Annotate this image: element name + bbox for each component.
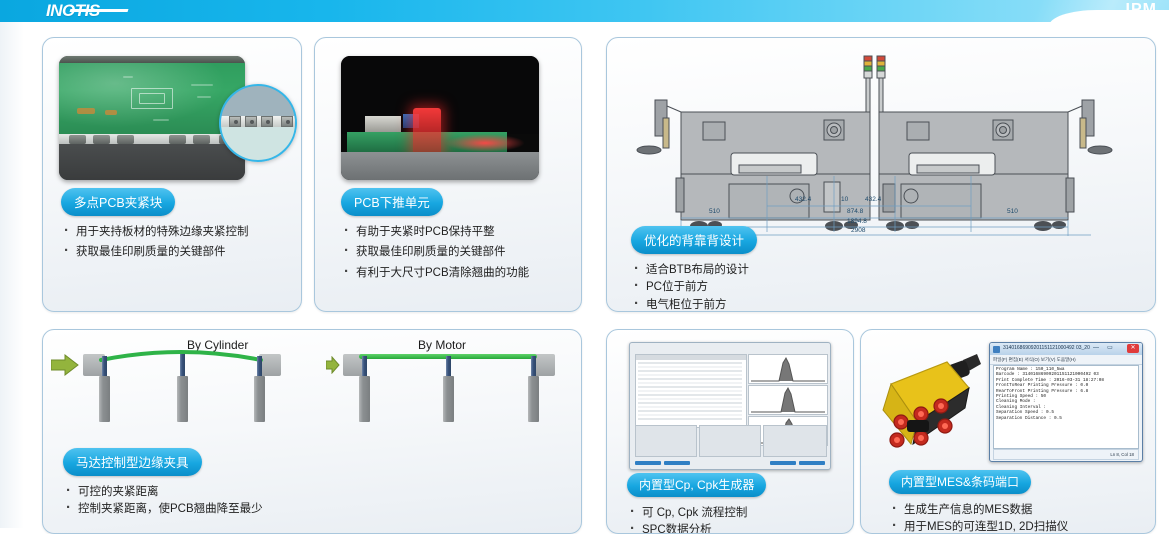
card-pcb-push-down-unit: PCB下推单元 有助于夹紧时PCB保持平整 获取最佳印刷质量的关键部件 有利于大…: [314, 37, 582, 312]
log-line: Separation Distance : 0.5: [996, 416, 1136, 421]
laser-beam: [413, 108, 441, 156]
clamp-block: [117, 135, 134, 144]
clamp-support: [528, 376, 539, 422]
notepad-text-area[interactable]: Program Name : 150_110_5wa Barcode : 314…: [993, 365, 1139, 449]
panel: [703, 122, 725, 140]
magnified-clamp-block: [229, 116, 241, 127]
card4-text: 马达控制型边缘夹具 可控的夹紧距离 控制夹紧距离，使PCB翘曲降至最少: [63, 448, 263, 520]
list-item: SPC数据分析: [627, 523, 766, 534]
card4-title: 马达控制型边缘夹具: [63, 448, 202, 476]
list-item: 有助于夹紧时PCB保持平整: [341, 225, 529, 239]
panel: [907, 122, 929, 140]
clamp-block: [93, 135, 110, 144]
card3-text: 优化的背靠背设计 适合BTB布局的设计 PC位于前方 电气柜位于前方: [631, 226, 757, 312]
clamp-shaft: [257, 356, 262, 378]
pcb-trace: [197, 96, 211, 98]
card3-bullets: 适合BTB布局的设计 PC位于前方 电气柜位于前方: [631, 263, 757, 312]
spc-action-button[interactable]: [799, 461, 825, 465]
list-item: 用于夹持板材的特殊边缘夹紧控制: [61, 225, 249, 239]
list-item: 生成生产信息的MES数据: [889, 503, 1068, 517]
card6-title: 内置型MES&条码端口: [889, 470, 1031, 494]
list-item: 电气柜位于前方: [631, 298, 757, 312]
fan-right: [993, 120, 1013, 140]
brand-logo-inotis: INOTIS: [46, 1, 100, 21]
machine-top-edge: [59, 56, 245, 63]
card1-bullets: 用于夹持板材的特殊边缘夹紧控制 获取最佳印刷质量的关键部件: [61, 225, 249, 260]
spc-stats-panel-1: [635, 425, 697, 457]
clamp-block: [193, 135, 210, 144]
clamp-support: [359, 376, 370, 422]
clamp-shaft: [446, 356, 451, 378]
pcb-trace: [191, 84, 213, 86]
card6-bullets: 生成生产信息的MES数据 用于MES的可连型1D, 2D扫描仪: [889, 503, 1068, 534]
spc-action-button[interactable]: [664, 461, 690, 465]
list-item: 控制夹紧距离，使PCB翘曲降至最少: [63, 502, 263, 516]
signal-tower-right: [877, 56, 885, 112]
card2-text: PCB下推单元 有助于夹紧时PCB保持平整 获取最佳印刷质量的关键部件 有利于大…: [341, 188, 529, 286]
card1-text: 多点PCB夹紧块 用于夹持板材的特殊边缘夹紧控制 获取最佳印刷质量的关键部件: [61, 188, 249, 266]
clamp-shaft: [180, 354, 185, 378]
pcb-pad: [105, 110, 117, 115]
card-back-to-back-design: 432.4 10 432.4 510 874.8 510 1894.8 2908…: [606, 37, 1156, 312]
arrow-small-icon: [326, 356, 340, 374]
histogram-chart: [748, 385, 828, 415]
brand-logo-strike-decoration: [70, 9, 129, 12]
arrow-large-icon: [51, 354, 79, 376]
notepad-menu-bar[interactable]: 파일(F) 편집(E) 서식(O) 보기(V) 도움말(H): [990, 355, 1143, 365]
card4-bullets: 可控的夹紧距离 控制夹紧距离，使PCB翘曲降至最少: [63, 485, 263, 517]
card5-bullets: 可 Cp, Cpk 流程控制 SPC数据分析: [627, 506, 766, 534]
clamp-shaft: [531, 356, 536, 378]
list-item: 有利于大尺寸PCB清除翘曲的功能: [341, 266, 529, 280]
minimize-button[interactable]: —: [1090, 344, 1102, 353]
slide-body: 多点PCB夹紧块 用于夹持板材的特殊边缘夹紧控制 获取最佳印刷质量的关键部件 P…: [0, 22, 1169, 528]
magnifier-callout: [219, 84, 297, 162]
left-rail-decoration: [0, 22, 24, 528]
list-item: PC位于前方: [631, 280, 757, 294]
magnified-clamp-block: [245, 116, 257, 127]
spc-action-button[interactable]: [770, 461, 796, 465]
list-item: 获取最佳印刷质量的关键部件: [61, 245, 249, 259]
push-down-head: [365, 116, 401, 132]
photo-laser-push-down: [341, 56, 539, 180]
clamp-block: [69, 135, 86, 144]
machine-base: [59, 144, 245, 180]
card5-title: 内置型Cp, Cpk生成器: [627, 473, 766, 497]
signal-tower-left: [864, 56, 872, 112]
screenshot-spc-software: [629, 342, 831, 470]
list-item: 获取最佳印刷质量的关键部件: [341, 245, 529, 259]
card2-title: PCB下推单元: [341, 188, 443, 216]
cad-machine-drawing: [619, 46, 1143, 236]
spc-stats-panel-2: [699, 425, 761, 457]
histogram-chart: [748, 354, 828, 384]
card-mes-barcode-port: 31401686909201151121000492 03_20 — ▭ ✕ 파…: [860, 329, 1156, 534]
clamp-shaft: [102, 356, 107, 378]
pcb-silkscreen-inner: [139, 93, 165, 104]
magnified-clamp-block: [281, 116, 293, 127]
photo-pcb-clamp: [59, 56, 245, 180]
card-motor-controlled-edge-clamp: By Cylinder By Motor: [42, 329, 582, 534]
notepad-window: 31401686909201151121000492 03_20 — ▭ ✕ 파…: [989, 342, 1143, 462]
clamp-shaft: [362, 356, 367, 378]
card1-title: 多点PCB夹紧块: [61, 188, 175, 216]
card6-text: 内置型MES&条码端口 生成生产信息的MES数据 用于MES的可连型1D, 2D…: [889, 470, 1068, 534]
photo-barcode-scanner: [877, 350, 981, 462]
list-item: 可 Cp, Cpk 流程控制: [627, 506, 766, 520]
app-header: INOTIS IPM: [0, 0, 1169, 22]
laser-glow: [445, 134, 525, 152]
pcb-trace: [153, 119, 169, 121]
spc-data-table: [635, 354, 747, 428]
maximize-button[interactable]: ▭: [1104, 344, 1116, 353]
spc-stats-panel-3: [763, 425, 827, 457]
clamp-support: [99, 376, 110, 422]
machine-base: [341, 152, 539, 180]
notepad-status-bar: Ln 8, Col 18: [993, 449, 1139, 460]
clamp-block: [169, 135, 186, 144]
list-item: 用于MES的可连型1D, 2D扫描仪: [889, 520, 1068, 534]
clamp-support: [254, 376, 265, 422]
diagram-label-by-motor: By Motor: [418, 338, 466, 352]
list-item: 适合BTB布局的设计: [631, 263, 757, 277]
diagram-cylinder-vs-motor: By Cylinder By Motor: [43, 336, 581, 452]
card5-text: 内置型Cp, Cpk生成器 可 Cp, Cpk 流程控制 SPC数据分析: [627, 473, 766, 534]
pcb-trace: [123, 76, 133, 78]
close-button[interactable]: ✕: [1127, 344, 1139, 353]
clamp-support: [177, 376, 188, 422]
notepad-icon: [993, 346, 1000, 353]
fan-left: [824, 120, 844, 140]
card2-bullets: 有助于夹紧时PCB保持平整 获取最佳印刷质量的关键部件 有利于大尺寸PCB清除翘…: [341, 225, 529, 280]
clamp-support: [443, 376, 454, 422]
card3-title: 优化的背靠背设计: [631, 226, 757, 254]
list-item: 可控的夹紧距离: [63, 485, 263, 499]
pcb-pad: [77, 108, 95, 114]
magnified-clamp-block: [261, 116, 273, 127]
spc-window-title: [634, 345, 635, 350]
card-cp-cpk-generator: 内置型Cp, Cpk生成器 可 Cp, Cpk 流程控制 SPC数据分析: [606, 329, 854, 534]
card-multi-point-pcb-clamp: 多点PCB夹紧块 用于夹持板材的特殊边缘夹紧控制 获取最佳印刷质量的关键部件: [42, 37, 302, 312]
spc-action-button[interactable]: [635, 461, 661, 465]
